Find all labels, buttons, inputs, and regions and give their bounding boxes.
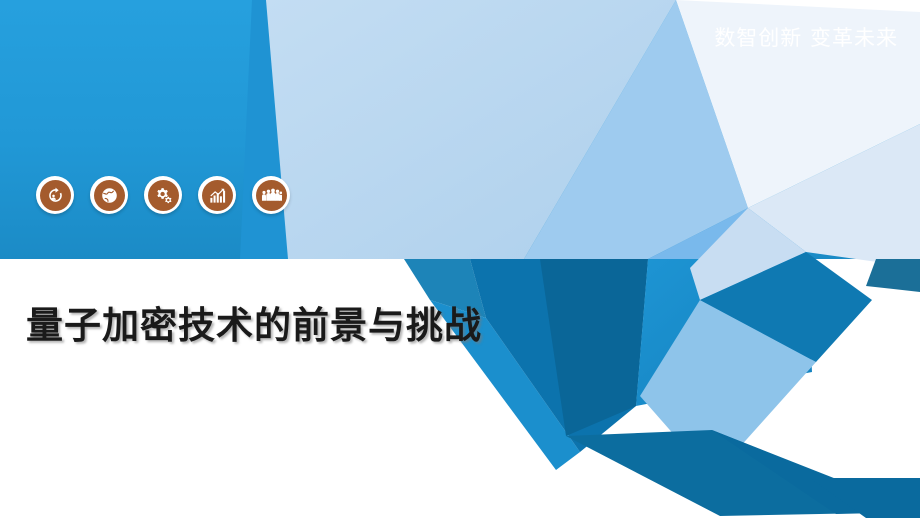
icon-badge-globe[interactable] — [90, 176, 128, 214]
page-title: 量子加密技术的前景与挑战 — [26, 295, 482, 349]
icon-badge-gears[interactable] — [144, 176, 182, 214]
slide-canvas: 数智创新 变革未来 — [0, 0, 920, 518]
icon-row — [36, 176, 290, 214]
bar-chart-icon — [202, 180, 233, 211]
gears-icon — [148, 180, 179, 211]
icon-badge-refresh[interactable] — [36, 176, 74, 214]
poly-teal-corner — [866, 259, 920, 292]
icon-badge-people[interactable] — [252, 176, 290, 214]
slide-tagline: 数智创新 变革未来 — [714, 26, 898, 51]
polygon-artwork — [0, 0, 920, 518]
refresh-cycle-icon — [40, 180, 71, 211]
globe-icon — [94, 180, 125, 211]
icon-badge-bar-chart[interactable] — [198, 176, 236, 214]
people-group-icon — [256, 180, 287, 211]
